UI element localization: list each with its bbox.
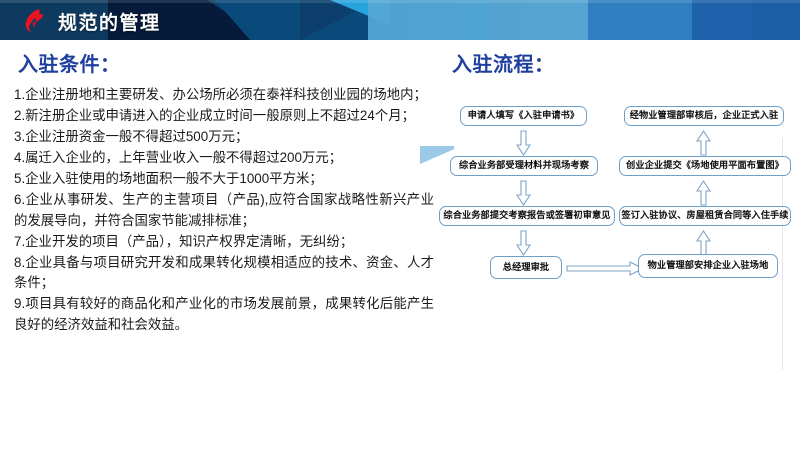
decorative-triangle-icon (420, 146, 454, 164)
conditions-panel: 入驻条件： 1.企业注册地和主要研发、办公场所必须在泰祥科技创业园的场地内； 2… (14, 48, 434, 336)
flow-box-submit-report[interactable]: 综合业务部提交考察报告或签署初审意见 (439, 206, 615, 226)
header-band-5 (752, 0, 800, 40)
down-arrow-icon-1 (516, 130, 531, 156)
list-item: 9.项目具有较好的商品化和产业化的市场发展前景，成果转化后能产生良好的经济效益和… (14, 294, 434, 335)
list-item: 8.企业具备与项目研究开发和成果转化规模相适应的技术、资金、人才条件； (14, 253, 434, 294)
process-heading: 入驻流程： (452, 48, 796, 77)
flow-box-submit-layout-plan[interactable]: 创业企业提交《场地使用平面布置图》 (619, 156, 791, 176)
slide-header: 规范的管理 (0, 0, 800, 40)
conditions-list: 1.企业注册地和主要研发、办公场所必须在泰祥科技创业园的场地内； 2.新注册企业… (14, 85, 434, 335)
down-arrow-icon-2 (516, 180, 531, 206)
slide-canvas: 规范的管理 入驻条件： 1.企业注册地和主要研发、办公场所必须在泰祥科技创业园的… (0, 0, 800, 449)
list-item: 6.企业从事研发、生产的主营项目（产品),应符合国家战略性新兴产业的发展导向，并… (14, 190, 434, 231)
header-band-light-2 (488, 0, 588, 40)
list-item: 2.新注册企业或申请进入的企业成立时间一般原则上不超过24个月； (14, 106, 434, 127)
right-arrow-icon (566, 261, 644, 276)
up-arrow-icon-2 (696, 180, 711, 206)
list-item: 1.企业注册地和主要研发、办公场所必须在泰祥科技创业园的场地内； (14, 85, 434, 106)
header-band-4 (692, 0, 752, 40)
process-flowchart: 申请人填写《入驻申请书》 综合业务部受理材料并现场考察 综合业务部提交考察报告或… (442, 94, 796, 314)
flow-box-apply-form[interactable]: 申请人填写《入驻申请书》 (460, 106, 587, 126)
header-top-highlight (0, 0, 800, 3)
header-band-light-1 (368, 0, 488, 40)
down-arrow-icon-3 (516, 230, 531, 256)
flow-box-sign-agreement[interactable]: 签订入驻协议、房屋租赁合同等入住手续 (619, 206, 791, 226)
list-item: 3.企业注册资金一般不得超过500万元； (14, 127, 434, 148)
flow-box-official-entry[interactable]: 经物业管理部审核后，企业正式入驻 (624, 106, 784, 126)
conditions-heading: 入驻条件： (18, 48, 434, 77)
flow-box-arrange-site[interactable]: 物业管理部安排企业入驻场地 (638, 254, 778, 278)
list-item: 7.企业开发的项目（产品），知识产权界定清晰，无纠纷； (14, 232, 434, 253)
flow-box-accept-materials[interactable]: 综合业务部受理材料并现场考察 (450, 156, 598, 176)
list-item: 4.属迁入企业的，上年营业收入一般不得超过200万元； (14, 148, 434, 169)
flow-box-manager-approval[interactable]: 总经理审批 (490, 256, 562, 279)
process-panel: 入驻流程： 申请人填写《入驻申请书》 综合业务部受理材料并现场考察 综合业务部提… (450, 48, 796, 440)
page-title: 规范的管理 (58, 8, 161, 35)
list-item: 5.企业入驻使用的场地面积一般不大于1000平方米； (14, 169, 434, 190)
up-arrow-icon-3 (696, 230, 711, 256)
header-band-3 (588, 0, 692, 40)
red-flame-logo-icon (20, 7, 48, 34)
up-arrow-icon-1 (696, 130, 711, 156)
